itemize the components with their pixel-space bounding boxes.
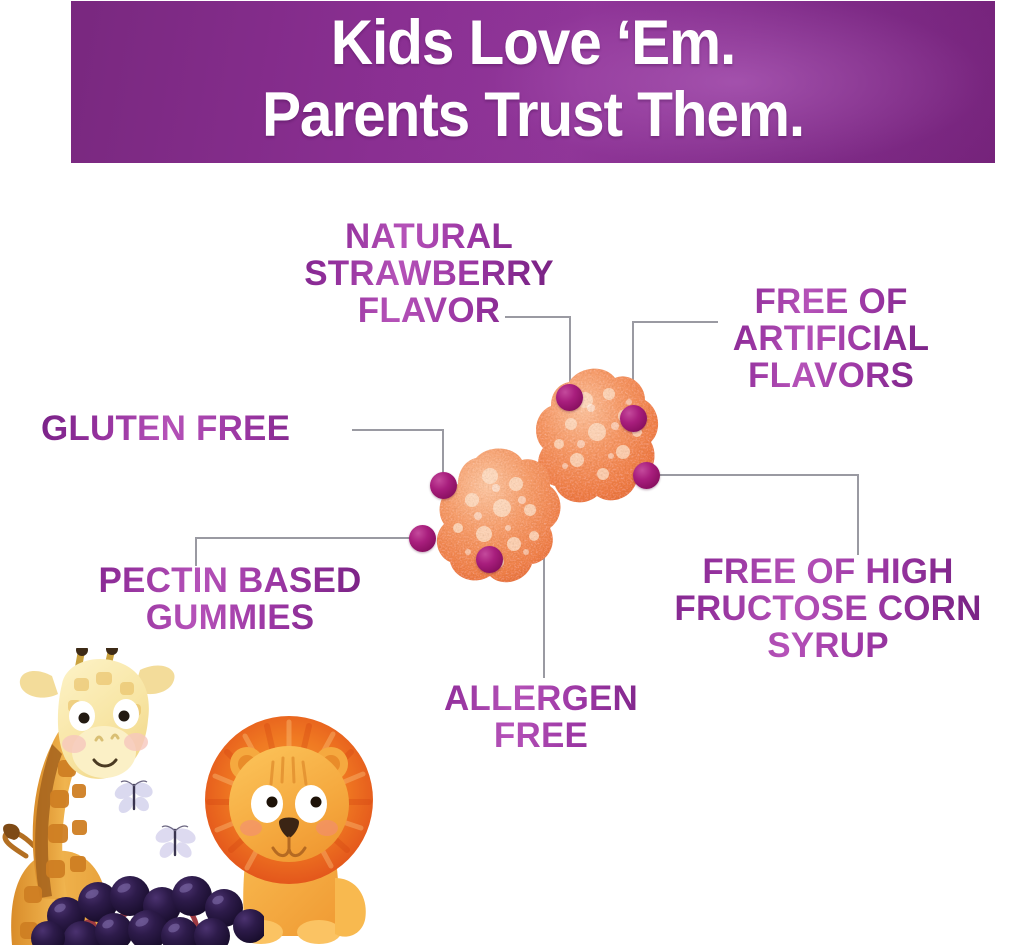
dot-natural-strawberry-flavor bbox=[556, 384, 583, 411]
callout-gluten-free: Gluten Free bbox=[41, 410, 361, 447]
butterfly-upper bbox=[112, 779, 156, 819]
callout-free-of-artificial-flavors: Free of Artificial Flavors bbox=[700, 283, 962, 394]
dot-gluten-free bbox=[430, 472, 457, 499]
dot-pectin-based-gummies bbox=[409, 525, 436, 552]
infographic-canvas: Kids Love ‘Em. Parents Trust Them. bbox=[0, 0, 1024, 945]
callout-free-of-high-fructose-corn-syrup: Free of High Fructose Corn Syrup bbox=[648, 553, 1008, 664]
callout-allergen-free: Allergen Free bbox=[396, 680, 686, 754]
leader-line-free-of-high-fructose-corn-syrup bbox=[652, 475, 858, 555]
callout-pectin-based-gummies: Pectin Based Gummies bbox=[62, 562, 398, 636]
dot-free-of-artificial-flavors bbox=[620, 405, 647, 432]
gummy-bear-left bbox=[428, 440, 578, 600]
elderberry-cluster bbox=[2, 852, 264, 945]
callout-natural-strawberry-flavor: Natural Strawberry Flavor bbox=[286, 218, 572, 329]
dot-allergen-free bbox=[476, 546, 503, 573]
dot-free-of-high-fructose-corn-syrup bbox=[633, 462, 660, 489]
